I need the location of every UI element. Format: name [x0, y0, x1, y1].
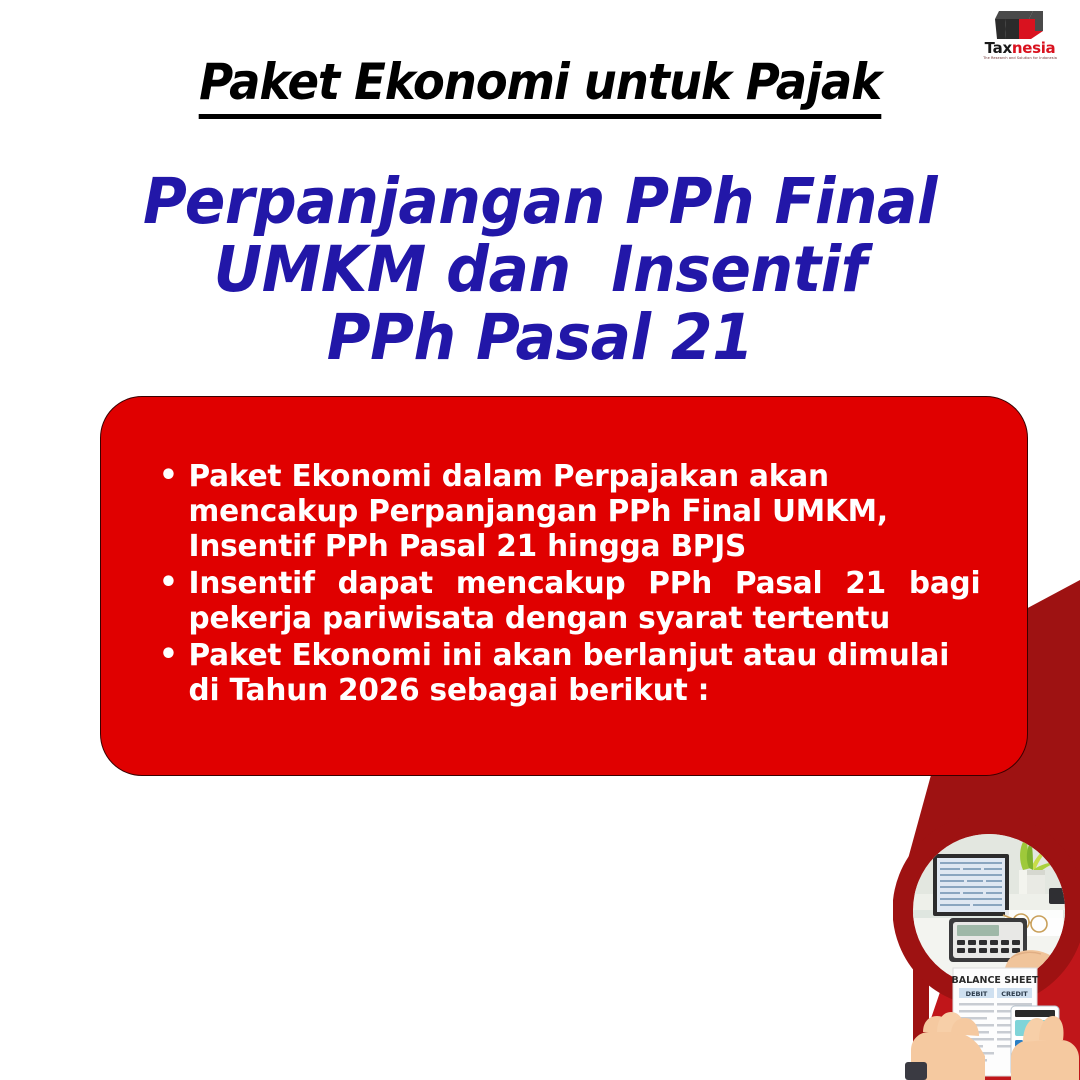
page-title-line-1: Perpanjangan PPh Final [27, 168, 1053, 236]
highlights-list: Paket Ekonomi dalam Perpajakan akan menc… [101, 397, 1027, 708]
balance-sheet-title: BALANCE SHEET [952, 975, 1039, 986]
balance-sheet-credit-header: CREDIT [1001, 990, 1028, 998]
list-item: Paket Ekonomi ini akan berlanjut atau di… [157, 638, 980, 708]
list-item-text: Paket Ekonomi dalam Perpajakan akan menc… [189, 459, 888, 564]
list-item: Paket Ekonomi dalam Perpajakan akan menc… [157, 459, 980, 564]
list-item: Insentif dapat mencakup PPh Pasal 21 bag… [157, 566, 980, 636]
balance-sheet-debit-header: DEBIT [966, 990, 988, 998]
poster-canvas: Taxnesia The Research and Solution for I… [0, 0, 1080, 1080]
page-title: Perpanjangan PPh Final UMKM dan Insentif… [27, 168, 1053, 372]
page-title-line-2: UMKM dan Insentif [27, 236, 1053, 304]
accounting-desk-illustration: BALANCE SHEET DEBIT CREDIT [893, 818, 1080, 1080]
highlights-card: Paket Ekonomi dalam Perpajakan akan menc… [100, 396, 1028, 776]
page-kicker: Paket Ekonomi untuk Pajak [38, 52, 1042, 119]
list-item-text: Insentif dapat mencakup PPh Pasal 21 bag… [189, 566, 981, 636]
taxnesia-arrow-logo-icon [985, 8, 1055, 40]
page-title-line-3: PPh Pasal 21 [27, 304, 1053, 372]
list-item-text: Paket Ekonomi ini akan berlanjut atau di… [189, 638, 950, 708]
page-kicker-text: Paket Ekonomi untuk Pajak [199, 52, 881, 119]
